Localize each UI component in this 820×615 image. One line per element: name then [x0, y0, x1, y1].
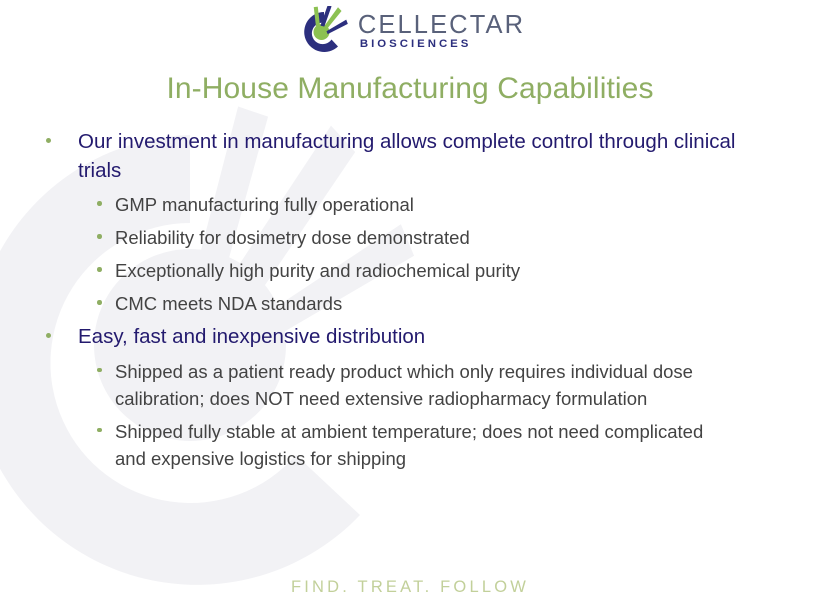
footer-tagline: FIND. TREAT. FOLLOW — [0, 578, 820, 597]
sub-bullet-text: Shipped fully stable at ambient temperat… — [115, 421, 703, 469]
sub-bullet-text: Shipped as a patient ready product which… — [115, 361, 693, 409]
bullet-marker-icon — [97, 428, 102, 433]
logo-wordmark: CELLECTAR BIOSCIENCES — [358, 10, 525, 51]
sub-bullet-text: GMP manufacturing fully operational — [115, 194, 414, 215]
bullet-marker-icon — [97, 267, 102, 272]
bullet-marker-icon — [97, 300, 102, 305]
bullet-marker-icon — [46, 333, 51, 338]
sub-bullet: Exceptionally high purity and radiochemi… — [0, 257, 820, 284]
sub-bullet: Shipped fully stable at ambient temperat… — [0, 418, 820, 472]
sub-bullet: GMP manufacturing fully operational — [0, 191, 820, 218]
slide-canvas: CELLECTAR BIOSCIENCES In-House Manufactu… — [0, 0, 820, 615]
logo-header: CELLECTAR BIOSCIENCES — [0, 6, 820, 54]
main-bullet-text: Our investment in manufacturing allows c… — [78, 130, 735, 182]
logo-company-name: CELLECTAR — [358, 12, 525, 38]
sub-bullet-text: Exceptionally high purity and radiochemi… — [115, 260, 520, 281]
bullet-marker-icon — [97, 201, 102, 206]
sub-bullet-text: CMC meets NDA standards — [115, 293, 342, 314]
bullet-marker-icon — [97, 234, 102, 239]
sub-bullet-text: Reliability for dosimetry dose demonstra… — [115, 227, 470, 248]
cellectar-c-burst-icon — [295, 6, 353, 54]
slide-body: Our investment in manufacturing allows c… — [0, 128, 820, 472]
main-bullet: Easy, fast and inexpensive distribution — [0, 323, 820, 352]
bullet-marker-icon — [46, 138, 51, 143]
sub-bullet: CMC meets NDA standards — [0, 290, 820, 317]
logo-company-subtitle: BIOSCIENCES — [360, 39, 471, 51]
page-title: In-House Manufacturing Capabilities — [0, 72, 820, 106]
sub-bullet: Shipped as a patient ready product which… — [0, 358, 820, 412]
main-bullet: Our investment in manufacturing allows c… — [0, 128, 820, 185]
main-bullet-text: Easy, fast and inexpensive distribution — [78, 325, 425, 348]
sub-bullet: Reliability for dosimetry dose demonstra… — [0, 224, 820, 251]
bullet-marker-icon — [97, 368, 102, 373]
